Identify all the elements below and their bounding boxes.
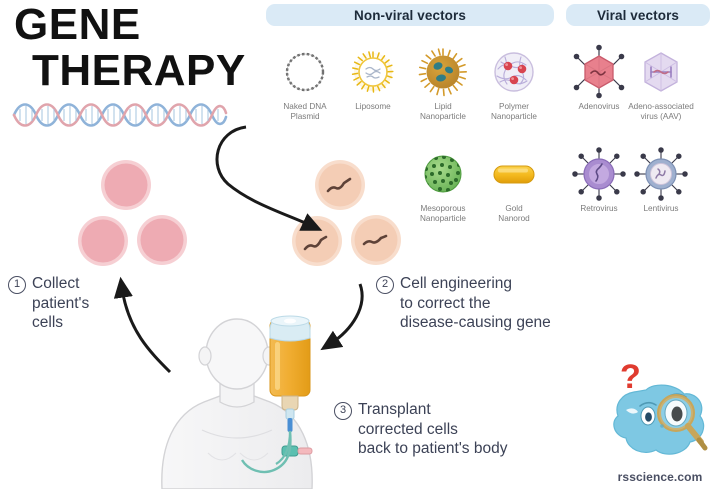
title-line-1: GENE bbox=[14, 0, 141, 49]
dna-helix-icon bbox=[12, 100, 228, 130]
svg-text:?: ? bbox=[620, 358, 641, 396]
vector-item-polymer-nanoparticle: Polymer Nanoparticle bbox=[477, 44, 551, 121]
section-header-nonviral: Non-viral vectors bbox=[266, 4, 554, 26]
infographic-canvas: GENE THERAPY Non-viral vectors Viral vec… bbox=[0, 0, 720, 489]
step-1: 1 Collect patient's cells bbox=[8, 274, 89, 333]
vector-caption: Adeno-associated virus (AAV) bbox=[624, 102, 698, 121]
step-2-text: Cell engineering to correct the disease-… bbox=[400, 274, 551, 333]
liposome-icon bbox=[336, 44, 410, 100]
gold-nanorod-icon bbox=[477, 146, 551, 202]
aav-icon bbox=[624, 44, 698, 100]
vector-caption: Naked DNA Plasmid bbox=[268, 102, 342, 121]
step-3-text: Transplant corrected cells back to patie… bbox=[358, 400, 507, 459]
vector-caption: Gold Nanorod bbox=[477, 204, 551, 223]
site-watermark[interactable]: ? bbox=[604, 358, 716, 484]
step-1-text: Collect patient's cells bbox=[32, 274, 89, 333]
naked-dna-plasmid-icon bbox=[268, 44, 342, 100]
rsscience-mascot-icon: ? bbox=[604, 358, 716, 466]
step-3: 3 Transplant corrected cells back to pat… bbox=[334, 400, 507, 459]
title-line-2: THERAPY bbox=[32, 48, 246, 94]
lentivirus-icon bbox=[624, 146, 698, 202]
vector-item-liposome: Liposome bbox=[336, 44, 410, 112]
patient-cells-group bbox=[78, 158, 218, 273]
step-2: 2 Cell engineering to correct the diseas… bbox=[376, 274, 551, 333]
watermark-domain: rsscience.com bbox=[604, 470, 716, 484]
section-header-viral: Viral vectors bbox=[566, 4, 710, 26]
vector-item-gold-nanorod: Gold Nanorod bbox=[477, 146, 551, 223]
lipid-nanoparticle-icon bbox=[406, 44, 480, 100]
step-3-number: 3 bbox=[334, 402, 352, 420]
vector-caption: Lentivirus bbox=[624, 204, 698, 214]
step-1-number: 1 bbox=[8, 276, 26, 294]
iv-bag bbox=[262, 312, 324, 442]
polymer-nanoparticle-icon bbox=[477, 44, 551, 100]
vector-caption: Liposome bbox=[336, 102, 410, 112]
vector-caption: Lipid Nanoparticle bbox=[406, 102, 480, 121]
vector-item-lipid-nanoparticle: Lipid Nanoparticle bbox=[406, 44, 480, 121]
question-mark-icon: ? bbox=[620, 358, 641, 396]
vector-caption: Polymer Nanoparticle bbox=[477, 102, 551, 121]
step-2-number: 2 bbox=[376, 276, 394, 294]
vector-item-naked-dna-plasmid: Naked DNA Plasmid bbox=[268, 44, 342, 121]
vector-item-adeno-associated-virus: Adeno-associated virus (AAV) bbox=[624, 44, 698, 121]
engineered-cells-group bbox=[292, 158, 432, 273]
page-title: GENE THERAPY bbox=[14, 2, 246, 94]
vector-item-lentivirus: Lentivirus bbox=[624, 146, 698, 214]
